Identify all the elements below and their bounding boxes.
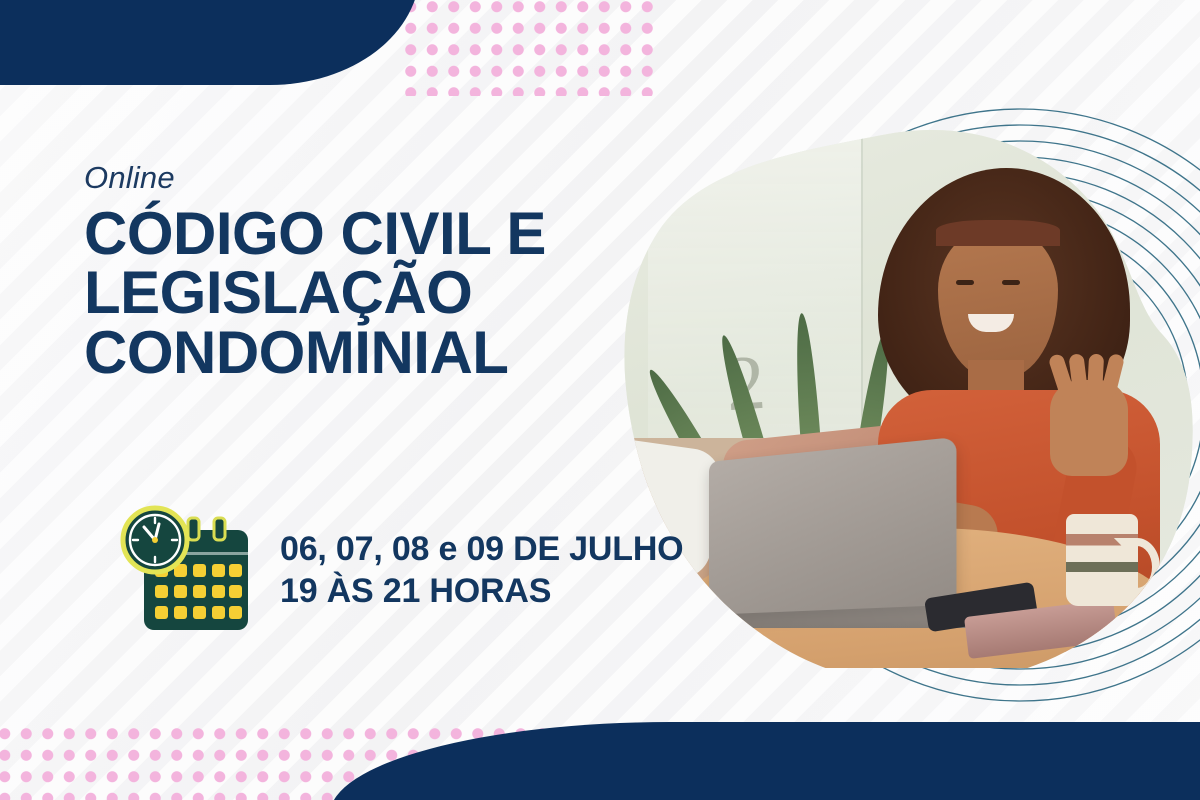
photo-person-eye-right (1002, 280, 1020, 285)
photo-person-face (938, 226, 1058, 378)
schedule-row: 06, 07, 08 e 09 DE JULHO 19 ÀS 21 HORAS (110, 500, 683, 640)
schedule-hours: 19 ÀS 21 HORAS (280, 570, 683, 612)
calendar-clock-icon (110, 500, 258, 640)
pink-dot-grid-top (400, 0, 655, 96)
headline-line-2: LEGISLAÇÃO (84, 263, 644, 322)
schedule-dates: 06, 07, 08 e 09 DE JULHO (280, 528, 683, 570)
schedule-text: 06, 07, 08 e 09 DE JULHO 19 ÀS 21 HORAS (280, 528, 683, 612)
headline-line-1: CÓDIGO CIVIL E (84, 204, 644, 263)
photo-person-headband (936, 220, 1060, 246)
photo-mug (1066, 514, 1138, 606)
page-title: CÓDIGO CIVIL E LEGISLAÇÃO CONDOMINIAL (84, 204, 644, 382)
eyebrow-label: Online (84, 160, 644, 196)
photo-person-hand-waving (1050, 380, 1128, 476)
event-banner: 2 (0, 0, 1200, 800)
clock-icon (123, 508, 187, 572)
photo-person-eye-left (956, 280, 974, 285)
photo-laptop-lid (709, 437, 956, 615)
headline-line-3: CONDOMINIAL (84, 323, 644, 382)
text-block: Online CÓDIGO CIVIL E LEGISLAÇÃO CONDOMI… (84, 160, 644, 382)
